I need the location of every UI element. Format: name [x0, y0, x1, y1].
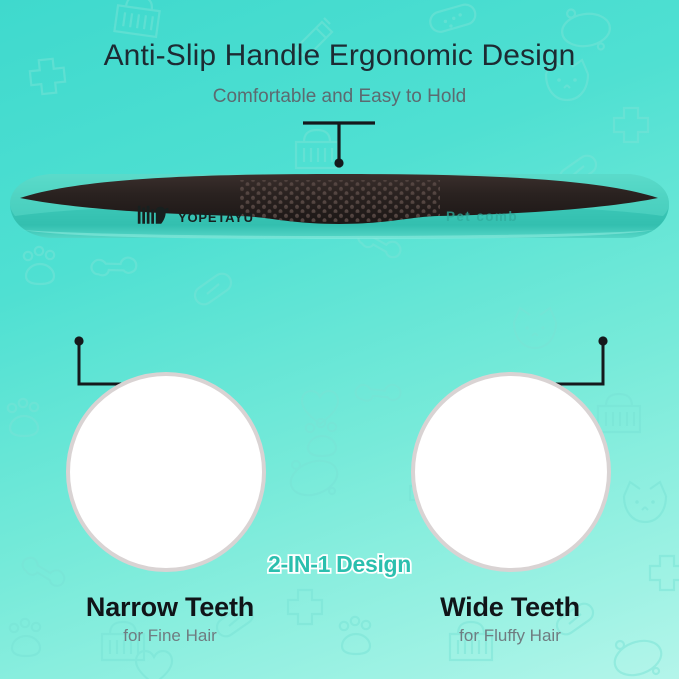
page-title: Anti-Slip Handle Ergonomic Design [0, 39, 679, 73]
pet-comb-product: YOPETAYU Pet comb [8, 168, 671, 348]
comb-teeth-wide [354, 234, 643, 338]
t-pointer-icon [299, 120, 379, 168]
comb-handle: YOPETAYU Pet comb [10, 174, 669, 239]
wide-teeth-closeup [411, 372, 611, 572]
caption-title: Narrow Teeth [20, 592, 320, 623]
narrow-teeth-closeup [66, 372, 266, 572]
page-subtitle: Comfortable and Easy to Hold [0, 86, 679, 108]
brand-name: YOPETAYU [178, 210, 254, 225]
badge-2-in-1: 2-IN-1 Design [0, 551, 679, 578]
caption-wide-teeth: Wide Teeth for Fluffy Hair [360, 592, 660, 646]
caption-title: Wide Teeth [360, 592, 660, 623]
comb-teeth-narrow [63, 234, 338, 338]
caption-subtitle: for Fluffy Hair [360, 626, 660, 646]
caption-subtitle: for Fine Hair [20, 626, 320, 646]
model-text: Pet comb [446, 209, 518, 224]
caption-narrow-teeth: Narrow Teeth for Fine Hair [20, 592, 320, 646]
infographic-canvas: Anti-Slip Handle Ergonomic Design Comfor… [0, 0, 679, 679]
